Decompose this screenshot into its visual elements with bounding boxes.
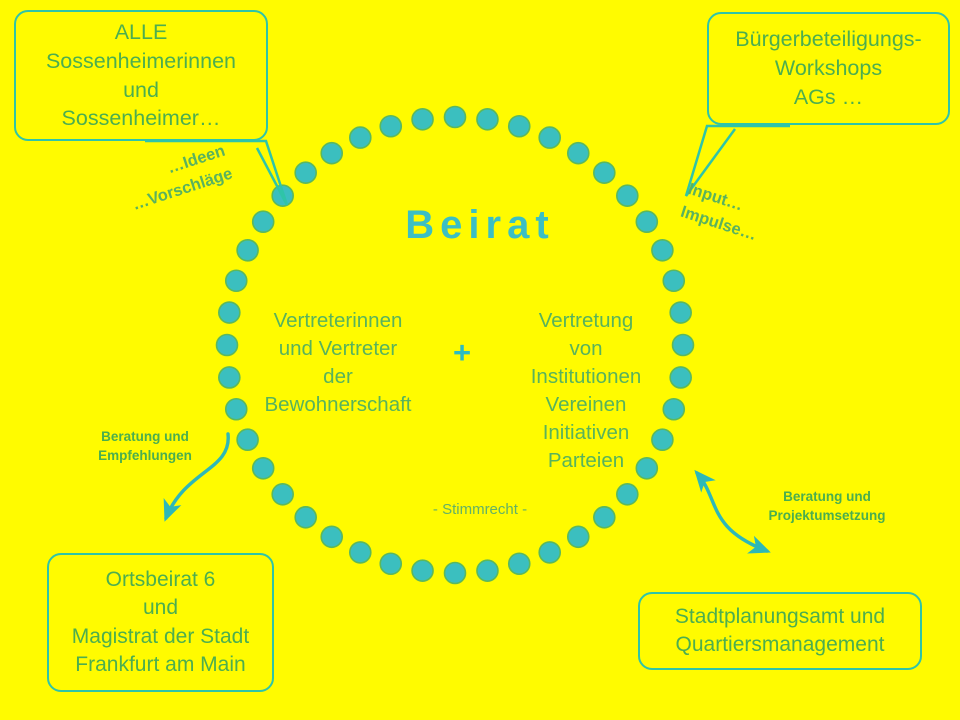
ring-dot — [412, 109, 433, 130]
callout-workshops-line-2: Workshops — [775, 54, 882, 83]
ring-dot — [295, 162, 316, 183]
ring-dot — [412, 560, 433, 581]
ring-dot — [663, 270, 684, 291]
callout-residents[interactable]: ALLE Sossenheimerinnen und Sossenheimer… — [14, 10, 268, 141]
ring-dot — [568, 143, 589, 164]
callout-workshops[interactable]: Bürgerbeteiligungs- Workshops AGs … — [707, 12, 950, 125]
ring-dot — [380, 116, 401, 137]
box-ortsbeirat-line-2: und — [143, 594, 178, 622]
annotation-beratung-left-line-2: Empfehlungen — [80, 446, 210, 465]
column-representatives: Vertreterinnen und Vertreter der Bewohne… — [252, 307, 424, 419]
ring-dot — [350, 127, 371, 148]
callout-residents-line-2: Sossenheimerinnen — [46, 47, 236, 76]
ring-dot — [226, 399, 247, 420]
column-representatives-line-4: Bewohnerschaft — [252, 391, 424, 419]
plus-icon: + — [442, 337, 482, 368]
annotation-beratung-empfehlungen: Beratung und Empfehlungen — [80, 427, 210, 465]
annotation-beratung-left-line-1: Beratung und — [80, 427, 210, 446]
ring-dot — [477, 109, 498, 130]
box-ortsbeirat[interactable]: Ortsbeirat 6 und Magistrat der Stadt Fra… — [47, 553, 274, 692]
column-representatives-line-3: der — [252, 363, 424, 391]
annotation-beratung-right-line-2: Projektumsetzung — [746, 506, 908, 525]
box-stadtplanung[interactable]: Stadtplanungsamt und Quartiersmanagement — [638, 592, 922, 670]
ring-dot — [539, 542, 560, 563]
ring-dot — [539, 127, 560, 148]
callout-residents-line-3: und — [123, 76, 159, 105]
diagram-canvas: ALLE Sossenheimerinnen und Sossenheimer…… — [0, 0, 960, 720]
ring-dot — [670, 302, 691, 323]
callout-residents-line-1: ALLE — [115, 18, 168, 47]
ring-dot — [509, 553, 530, 574]
ring-dot — [477, 560, 498, 581]
box-stadtplanung-line-1: Stadtplanungsamt und — [675, 603, 885, 631]
ring-dot — [445, 563, 466, 584]
ring-dot — [219, 367, 240, 388]
ring-dot — [226, 270, 247, 291]
ring-dot — [670, 367, 691, 388]
box-ortsbeirat-line-4: Frankfurt am Main — [75, 651, 245, 679]
column-representatives-line-2: und Vertreter — [252, 335, 424, 363]
annotation-beratung-projektumsetzung: Beratung und Projektumsetzung — [746, 487, 908, 525]
ring-dot — [509, 116, 530, 137]
column-institutions-line-6: Parteien — [500, 447, 672, 475]
center-columns: Vertreterinnen und Vertreter der Bewohne… — [252, 307, 672, 475]
ring-dot — [217, 335, 238, 356]
column-institutions-line-4: Vereinen — [500, 391, 672, 419]
ring-dot — [445, 107, 466, 128]
ring-dot — [321, 143, 342, 164]
callout-workshops-line-3: AGs … — [794, 83, 863, 112]
box-ortsbeirat-line-1: Ortsbeirat 6 — [106, 566, 216, 594]
column-institutions-line-2: von — [500, 335, 672, 363]
annotation-beratung-right-line-1: Beratung und — [746, 487, 908, 506]
box-ortsbeirat-line-3: Magistrat der Stadt — [72, 623, 249, 651]
ring-dot — [673, 335, 694, 356]
ring-dot — [219, 302, 240, 323]
box-stadtplanung-line-2: Quartiersmanagement — [676, 631, 885, 659]
ring-dot — [568, 526, 589, 547]
ring-dot — [321, 526, 342, 547]
column-institutions-line-3: Institutionen — [500, 363, 672, 391]
column-institutions: Vertretung von Institutionen Vereinen In… — [500, 307, 672, 475]
column-representatives-line-1: Vertreterinnen — [252, 307, 424, 335]
callout-residents-line-4: Sossenheimer… — [62, 104, 221, 133]
ring-dot — [594, 162, 615, 183]
callout-workshops-line-1: Bürgerbeteiligungs- — [735, 25, 921, 54]
ring-dot — [380, 553, 401, 574]
ring-dot — [350, 542, 371, 563]
column-institutions-line-5: Initiativen — [500, 419, 672, 447]
column-institutions-line-1: Vertretung — [500, 307, 672, 335]
